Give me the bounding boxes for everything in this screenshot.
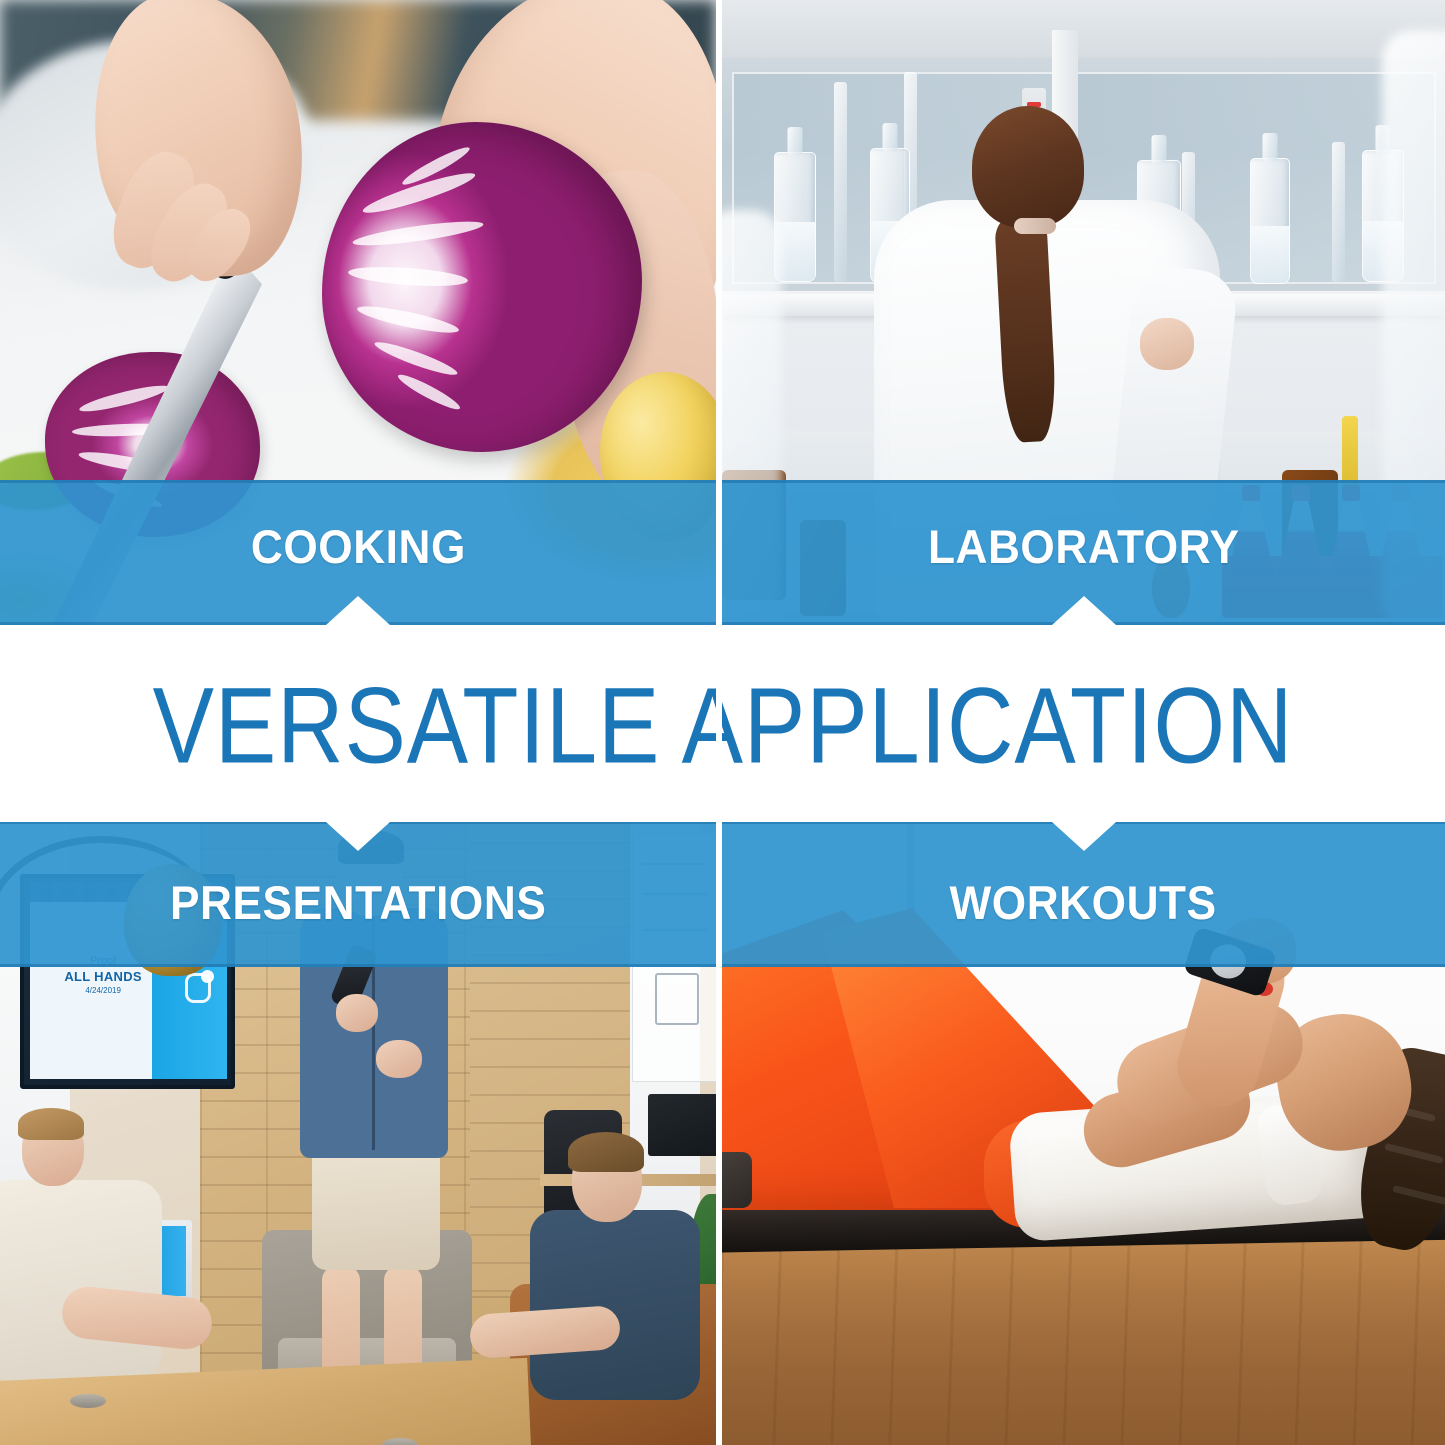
main-title: VERSATILE APPLICATION — [152, 672, 1293, 780]
band-notch-triangle-icon — [326, 596, 390, 625]
glass-column — [834, 82, 847, 282]
scientist-hand — [1140, 318, 1194, 370]
wood-floor — [722, 1222, 1445, 1445]
versatile-application-infographic: Proof ALL HANDS 4/24/2019 — [0, 0, 1445, 1445]
slide-logo-icon — [185, 973, 211, 1003]
table-grommet — [70, 1394, 106, 1408]
scientist-head — [972, 106, 1084, 228]
attendee-right-body — [530, 1210, 700, 1400]
foot — [722, 1152, 752, 1208]
desk-monitor — [648, 1094, 716, 1156]
panel-label-presentations: PRESENTATIONS — [170, 879, 546, 926]
band-notch-triangle-icon — [1052, 596, 1116, 625]
presenter-hand — [336, 994, 378, 1032]
title-strip: VERSATILE APPLICATION — [0, 625, 1445, 822]
panel-label-workouts: WORKOUTS — [950, 879, 1217, 926]
attendee-right-hair — [568, 1132, 644, 1172]
hair-tie — [1014, 218, 1056, 234]
reagent-bottle — [1250, 158, 1290, 284]
slide-line-2: ALL HANDS — [46, 969, 160, 985]
presenter-shorts — [312, 1148, 440, 1270]
label-band-workouts: WORKOUTS — [722, 822, 1445, 967]
attendee-left-hair — [18, 1108, 84, 1140]
glass-column — [1332, 142, 1345, 282]
attendee-left-body — [0, 1180, 162, 1380]
cabbage-half — [322, 122, 642, 452]
band-notch-triangle-icon — [326, 822, 390, 851]
label-band-laboratory: LABORATORY — [722, 480, 1445, 625]
panel-label-cooking: COOKING — [250, 523, 465, 570]
slide-line-3: 4/24/2019 — [46, 986, 160, 996]
label-band-presentations: PRESENTATIONS — [0, 822, 716, 967]
panel-label-laboratory: LABORATORY — [928, 523, 1240, 570]
presenter-hand — [376, 1040, 422, 1078]
label-band-cooking: COOKING — [0, 480, 716, 625]
table-grommet — [382, 1438, 418, 1445]
lab-ceiling — [722, 0, 1445, 58]
band-notch-triangle-icon — [1052, 822, 1116, 851]
column-gutter — [716, 0, 722, 1445]
